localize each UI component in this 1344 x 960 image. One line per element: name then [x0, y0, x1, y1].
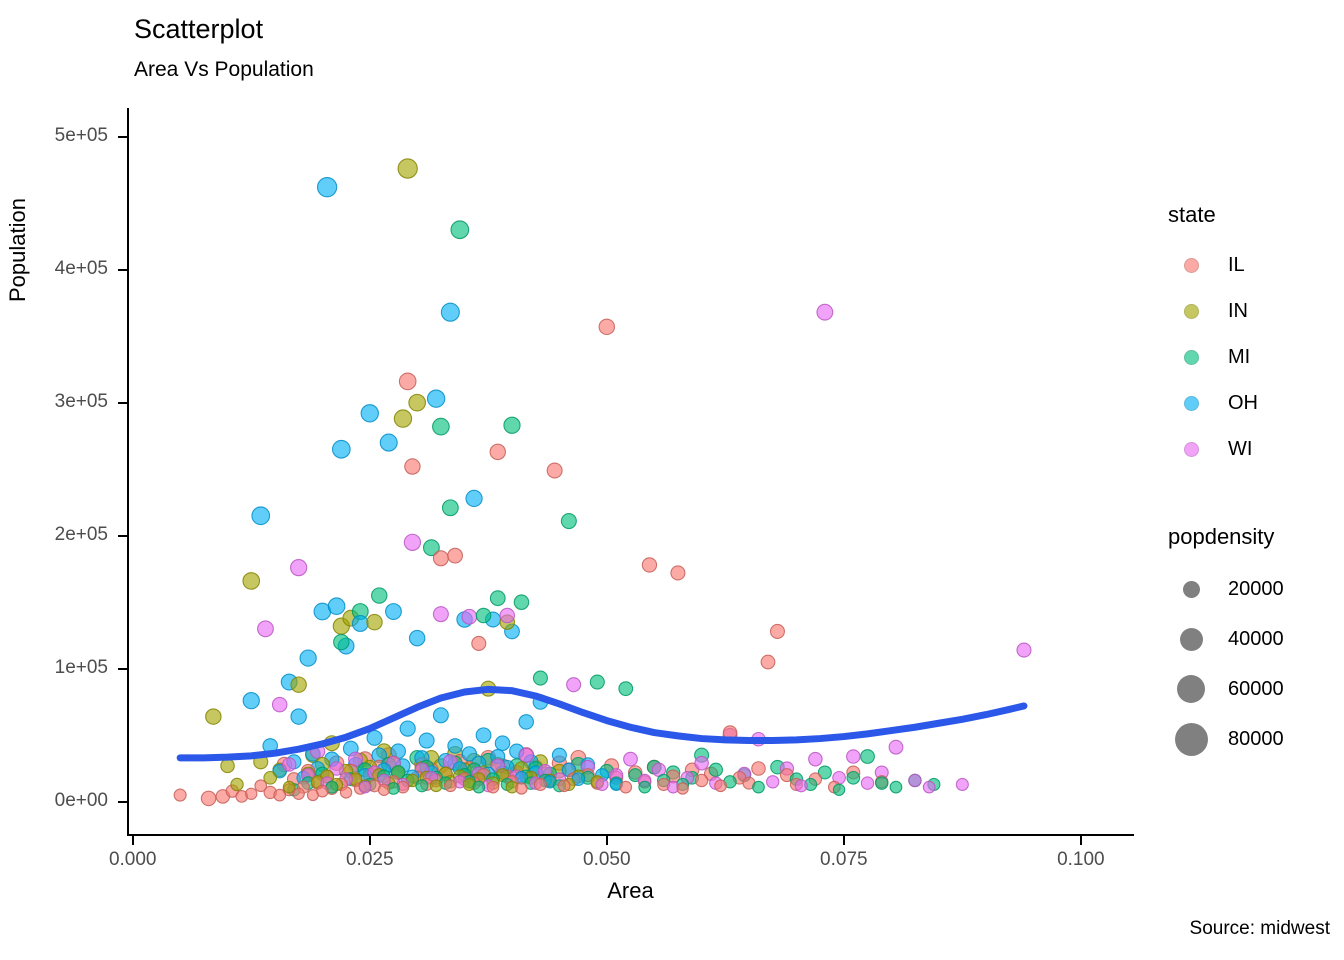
y-tick-mark: [118, 668, 127, 670]
x-tick-mark: [369, 836, 371, 845]
y-tick-mark: [118, 801, 127, 803]
scatter-point: [409, 394, 426, 411]
scatter-point: [558, 780, 570, 792]
y-tick-mark: [118, 535, 127, 537]
legend-size-label: 20000: [1228, 578, 1284, 601]
scatter-point: [317, 178, 336, 197]
scatter-point: [252, 507, 270, 525]
scatter-point: [448, 548, 463, 563]
scatter-point: [909, 774, 921, 786]
legend-popdensity: popdensity 20000400006000080000: [1168, 524, 1344, 764]
scatter-point: [809, 752, 822, 765]
scatter-point: [398, 159, 417, 178]
scatter-point: [596, 778, 608, 790]
scatter-point: [923, 781, 935, 793]
scatter-point: [476, 608, 490, 622]
scatter-point: [956, 778, 968, 790]
legend-swatch-icon: [1168, 396, 1214, 411]
scatter-point: [624, 752, 638, 766]
scatter-point: [767, 776, 779, 788]
scatter-point: [561, 514, 576, 529]
plot-subtitle: Area Vs Population: [134, 58, 314, 82]
y-tick-mark: [118, 269, 127, 271]
scatter-point: [567, 678, 581, 692]
scatter-point: [495, 736, 509, 750]
legend-state-title: state: [1168, 202, 1344, 228]
scatter-point: [221, 759, 234, 772]
legend-item-il[interactable]: IL: [1168, 242, 1344, 288]
plot-canvas: [128, 110, 1133, 835]
scatter-point: [500, 608, 514, 622]
legend-size-swatch-icon: [1168, 581, 1214, 598]
scatter-point: [300, 650, 316, 666]
y-axis-title-label: Population: [5, 198, 31, 302]
scatter-point: [378, 784, 389, 795]
plot-panel: [128, 110, 1133, 835]
x-tick-mark: [1080, 836, 1082, 845]
x-tick-mark: [606, 836, 608, 845]
y-tick-label: 1e+05: [30, 657, 108, 679]
legend-swatch-icon: [1168, 258, 1214, 273]
scatter-point: [861, 750, 875, 764]
x-tick-label: 0.050: [562, 849, 652, 871]
scatter-point: [547, 463, 562, 478]
scatter-point: [451, 221, 469, 239]
scatter-point: [448, 739, 462, 753]
scatter-point: [753, 781, 765, 793]
y-tick-label: 5e+05: [30, 125, 108, 147]
scatter-point: [293, 788, 304, 799]
x-tick-label: 0.000: [88, 849, 178, 871]
scatter-point: [430, 780, 442, 792]
scatter-point: [619, 682, 633, 696]
scatter-point: [516, 783, 527, 794]
scatter-point: [599, 319, 614, 334]
scatter-point: [847, 750, 860, 763]
scatter-point: [770, 624, 784, 638]
scatter-point: [274, 789, 286, 801]
scatter-point: [833, 784, 844, 795]
scatter-point: [291, 560, 307, 576]
scatter-point: [246, 788, 257, 799]
scatter-point: [795, 780, 807, 792]
scatter-point: [367, 730, 382, 745]
scatter-point: [231, 778, 243, 790]
scatter-point: [590, 675, 604, 689]
scatter-point: [514, 595, 528, 609]
x-tick-mark: [843, 836, 845, 845]
scatter-point: [404, 534, 420, 550]
y-tick-label: 0e+00: [30, 790, 108, 812]
scatter-point: [282, 758, 295, 771]
scatter-point: [372, 588, 387, 603]
legend-size-swatch-icon: [1168, 675, 1214, 703]
scatter-point: [433, 418, 450, 435]
scatter-point: [405, 459, 420, 474]
legend-size-swatch-icon: [1168, 723, 1214, 756]
scatter-point: [428, 390, 445, 407]
scatter-point: [519, 748, 533, 762]
scatter-point: [243, 693, 259, 709]
scatter-point: [291, 677, 306, 692]
y-tick-label: 3e+05: [30, 391, 108, 413]
legend-item-oh[interactable]: OH: [1168, 380, 1344, 426]
scatter-point: [334, 634, 349, 649]
scatter-point: [490, 444, 505, 459]
scatter-point: [642, 558, 656, 572]
scatter-point: [534, 778, 546, 790]
scatter-point: [352, 616, 368, 632]
scatter-point: [466, 490, 482, 506]
legend-size-item-80000[interactable]: 80000: [1168, 714, 1344, 764]
x-axis-title: Area: [128, 878, 1133, 904]
x-tick-mark: [132, 836, 134, 845]
legend-swatch-icon: [1168, 304, 1214, 319]
scatter-point: [677, 783, 688, 794]
x-tick-label: 0.075: [799, 849, 889, 871]
scatter-point: [847, 771, 860, 784]
legend-label: WI: [1228, 438, 1252, 461]
scatter-point: [206, 709, 221, 724]
scatterplot-figure: Scatterplot Area Vs Population Source: m…: [0, 0, 1344, 960]
legend-swatch-icon: [1168, 350, 1214, 365]
scatter-point: [367, 614, 382, 629]
legend-size-item-20000[interactable]: 20000: [1168, 564, 1344, 614]
scatter-point: [409, 630, 424, 645]
legend-area: state ILINMIOHWI popdensity 200004000060…: [1168, 110, 1344, 764]
scatter-point: [361, 405, 378, 422]
scatter-point: [876, 777, 888, 789]
x-tick-label: 0.100: [1036, 849, 1126, 871]
legend-state: state ILINMIOHWI: [1168, 202, 1344, 472]
scatter-point: [490, 591, 505, 606]
scatter-point: [416, 780, 428, 792]
y-tick-mark: [118, 136, 127, 138]
scatter-point: [715, 780, 727, 792]
scatter-point: [307, 790, 318, 801]
scatter-point: [709, 763, 722, 776]
scatter-point: [400, 721, 415, 736]
scatter-point: [399, 373, 416, 390]
legend-size-label: 80000: [1228, 728, 1284, 751]
scatter-point: [433, 551, 448, 566]
scatter-point: [433, 708, 448, 723]
scatter-point: [533, 671, 547, 685]
scatter-point: [340, 787, 351, 798]
legend-item-wi[interactable]: WI: [1168, 426, 1344, 472]
scatter-point: [861, 777, 873, 789]
scatter-point: [462, 609, 477, 624]
scatter-point: [552, 748, 566, 762]
scatter-point: [359, 781, 371, 793]
scatter-point: [445, 780, 457, 792]
legend-popdensity-title: popdensity: [1168, 524, 1344, 550]
y-tick-label: 4e+05: [30, 258, 108, 280]
x-tick-label: 0.025: [325, 849, 415, 871]
scatter-point: [476, 728, 491, 743]
legend-size-item-60000[interactable]: 60000: [1168, 664, 1344, 714]
y-tick-label: 2e+05: [30, 524, 108, 546]
scatter-point: [671, 566, 685, 580]
scatter-point: [394, 410, 411, 427]
scatter-point: [752, 762, 765, 775]
scatter-point: [695, 756, 708, 769]
scatter-point: [333, 440, 351, 458]
scatter-point: [243, 573, 260, 590]
scatter-points-layer: [174, 159, 1031, 806]
scatter-point: [419, 733, 434, 748]
scatter-point: [272, 697, 286, 711]
scatter-point: [258, 621, 274, 637]
scatter-point: [255, 780, 267, 792]
legend-size-label: 40000: [1228, 628, 1284, 651]
y-axis-line: [127, 108, 129, 836]
scatter-point: [442, 500, 458, 516]
scatter-point: [890, 781, 902, 793]
legend-item-mi[interactable]: MI: [1168, 334, 1344, 380]
scatter-point: [620, 781, 632, 793]
scatter-point: [386, 604, 402, 620]
page-title: Scatterplot: [134, 14, 263, 45]
legend-label: OH: [1228, 392, 1258, 415]
plot-caption: Source: midwest: [1190, 918, 1330, 940]
scatter-point: [291, 709, 306, 724]
scatter-point: [380, 434, 397, 451]
scatter-point: [639, 781, 651, 793]
scatter-point: [889, 740, 903, 754]
scatter-point: [472, 636, 486, 650]
scatter-point: [695, 774, 707, 786]
x-axis-line: [127, 834, 1134, 836]
scatter-point: [328, 598, 345, 615]
y-tick-mark: [118, 402, 127, 404]
legend-swatch-icon: [1168, 442, 1214, 457]
scatter-point: [441, 303, 459, 321]
legend-size-item-40000[interactable]: 40000: [1168, 614, 1344, 664]
legend-size-swatch-icon: [1168, 628, 1214, 651]
scatter-point: [487, 781, 499, 793]
legend-label: IL: [1228, 254, 1245, 277]
legend-item-in[interactable]: IN: [1168, 288, 1344, 334]
scatter-point: [174, 789, 186, 801]
scatter-point: [817, 304, 833, 320]
scatter-point: [504, 417, 520, 433]
legend-label: MI: [1228, 346, 1250, 369]
scatter-point: [201, 791, 215, 805]
scatter-point: [1017, 643, 1031, 657]
scatter-point: [473, 781, 485, 793]
scatter-point: [433, 607, 448, 622]
legend-size-label: 60000: [1228, 678, 1284, 701]
scatter-point: [519, 715, 533, 729]
legend-label: IN: [1228, 300, 1248, 323]
scatter-point: [761, 655, 775, 669]
